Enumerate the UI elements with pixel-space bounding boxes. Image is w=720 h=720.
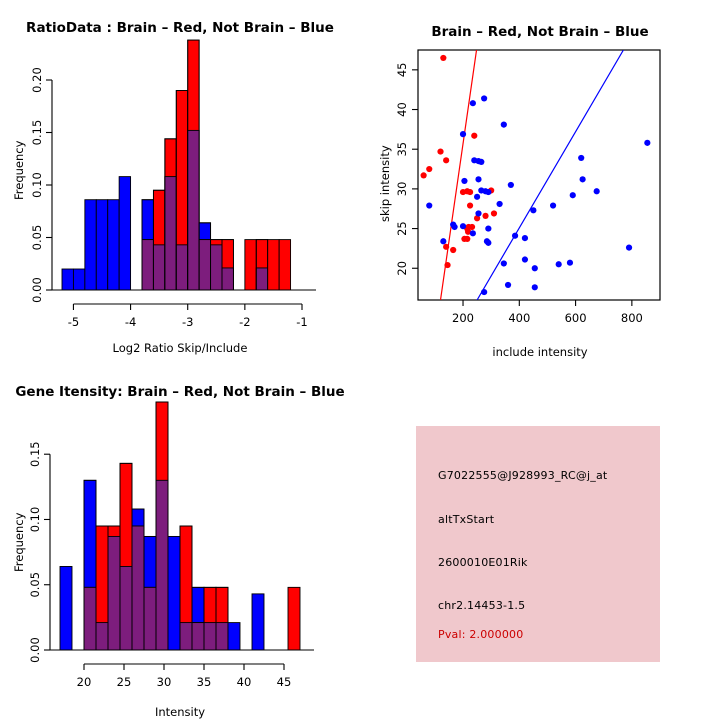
scatter-point [481, 95, 487, 101]
hist-bar-overlap [142, 240, 153, 290]
scatter-point [450, 247, 456, 253]
info-probe-id: G7022555@J928993_RC@j_at [438, 469, 607, 482]
scatter-point [478, 159, 484, 165]
hist-bar-overlap [180, 623, 192, 650]
y-tick-label: 0.00 [28, 637, 42, 663]
hist-bar-red [268, 240, 279, 290]
hist-bar-red [279, 240, 290, 290]
scatter-point [522, 235, 528, 241]
hist-bar-blue [252, 594, 264, 650]
scatter-plot: 202530354045200400600800 [360, 28, 720, 328]
hist-bar-overlap [199, 240, 210, 290]
scatter-point [443, 244, 449, 250]
scatter-xlabel: include intensity [360, 345, 720, 359]
scatter-point [550, 202, 556, 208]
scatter-point [501, 122, 507, 128]
scatter-point [594, 188, 600, 194]
scatter-point [474, 194, 480, 200]
hist-bar-overlap [132, 526, 144, 650]
scatter-points [421, 55, 651, 295]
scatter-point [512, 233, 518, 239]
hist-bar-overlap [192, 623, 204, 650]
scatter-point [421, 172, 427, 178]
scatter-point [485, 225, 491, 231]
fit-line-not-brain-fit [477, 50, 623, 300]
hist-bar-blue [96, 200, 107, 290]
scatter-point [437, 148, 443, 154]
ratio-hist-xlabel: Log2 Ratio Skip/Include [0, 341, 360, 355]
hist-bar-overlap [156, 480, 168, 650]
svg-ratio-bars [62, 40, 291, 290]
hist-bar-overlap [216, 623, 228, 650]
scatter-point [505, 282, 511, 288]
x-tick-label: -3 [182, 315, 193, 328]
y-tick-label: 0.10 [28, 507, 42, 533]
scatter-point [482, 213, 488, 219]
hist-bar-blue [85, 200, 96, 290]
y-tick-label: 0.20 [30, 67, 44, 93]
scatter-point [485, 240, 491, 246]
hist-bar-overlap [120, 566, 132, 650]
scatter-point [497, 201, 503, 207]
scatter-point [501, 260, 507, 266]
scatter-point [475, 176, 481, 182]
scatter-point [475, 210, 481, 216]
scatter-point [491, 210, 497, 216]
panel-gene-histogram: Gene Itensity: Brain – Red, Not Brain – … [0, 360, 360, 720]
info-locus: chr2.14453-1.5 [438, 599, 525, 612]
x-tick-label: 30 [157, 675, 172, 689]
y-tick-label: 35 [395, 142, 409, 157]
y-tick-label: 0.15 [28, 441, 42, 467]
scatter-point [470, 100, 476, 106]
hist-bar-overlap [153, 245, 164, 290]
scatter-point [460, 131, 466, 137]
scatter-point [570, 192, 576, 198]
y-tick-label: 0.15 [30, 120, 44, 146]
scatter-point [481, 289, 487, 295]
y-tick-label: 20 [395, 261, 409, 276]
scatter-point [426, 166, 432, 172]
gene-hist-ylabel: Frequency [12, 513, 26, 572]
panel-ratio-histogram: RatioData : Brain – Red, Not Brain – Blu… [0, 0, 360, 360]
x-tick-label: -4 [125, 315, 136, 328]
x-tick-label: 45 [277, 675, 292, 689]
y-tick-label: 0.05 [30, 225, 44, 251]
scatter-point [471, 133, 477, 139]
scatter-ylabel: skip intensity [378, 145, 392, 222]
y-tick-label: 0.00 [30, 277, 44, 303]
hist-bar-overlap [165, 177, 176, 290]
scatter-point [578, 155, 584, 161]
scatter-point [440, 238, 446, 244]
hist-bar-blue [108, 200, 119, 290]
scatter-point [464, 236, 470, 242]
hist-bar-overlap [144, 587, 156, 650]
ratio-hist-plot: 0.000.050.100.150.20-5-4-3-2-1 [0, 28, 360, 328]
scatter-point [644, 140, 650, 146]
x-tick-label: 600 [565, 311, 587, 325]
hist-bar-overlap [211, 245, 222, 290]
scatter-point [467, 189, 473, 195]
figure-canvas: RatioData : Brain – Red, Not Brain – Blu… [0, 0, 720, 720]
scatter-point [460, 223, 466, 229]
hist-bar-red [245, 240, 256, 290]
hist-bar-blue [228, 623, 240, 650]
y-tick-label: 0.05 [28, 572, 42, 598]
hist-bar-overlap [256, 268, 267, 290]
hist-bar-blue [60, 566, 72, 650]
scatter-point [626, 245, 632, 251]
scatter-point [530, 207, 536, 213]
x-tick-label: 800 [621, 311, 643, 325]
hist-bar-blue [62, 269, 73, 290]
info-event-type: altTxStart [438, 513, 494, 526]
x-tick-label: 400 [508, 311, 530, 325]
scatter-point [444, 262, 450, 268]
scatter-point [426, 202, 432, 208]
gene-info-box: G7022555@J928993_RC@j_at altTxStart 2600… [416, 426, 660, 662]
y-tick-label: 30 [395, 182, 409, 197]
gene-hist-plot: 0.000.050.100.15202530354045 [0, 392, 360, 692]
hist-bar-overlap [222, 268, 233, 290]
panel-intensity-scatter: Brain – Red, Not Brain – Blue 2025303540… [360, 0, 720, 360]
y-tick-label: 40 [395, 102, 409, 117]
scatter-point [469, 224, 475, 230]
info-gene-symbol: 2600010E01Rik [438, 556, 528, 569]
hist-bar-overlap [84, 587, 96, 650]
scatter-point [508, 182, 514, 188]
hist-bar-overlap [108, 536, 120, 650]
x-tick-label: -1 [296, 315, 307, 328]
svg-gene-bars [60, 402, 300, 650]
y-tick-label: 45 [395, 63, 409, 78]
scatter-point [461, 178, 467, 184]
hist-bar-overlap [204, 623, 216, 650]
scatter-point [522, 256, 528, 262]
x-tick-label: 40 [237, 675, 252, 689]
hist-bar-blue [119, 177, 130, 290]
hist-bar-overlap [96, 623, 108, 650]
panel-gene-info: G7022555@J928993_RC@j_at altTxStart 2600… [360, 360, 720, 720]
info-pval: Pval: 2.000000 [438, 628, 523, 641]
scatter-point [443, 157, 449, 163]
scatter-point [470, 230, 476, 236]
scatter-point [556, 261, 562, 267]
scatter-point [467, 202, 473, 208]
x-tick-label: 25 [117, 675, 132, 689]
x-tick-label: 20 [77, 675, 92, 689]
gene-hist-xlabel: Intensity [0, 705, 360, 719]
ratio-hist-ylabel: Frequency [12, 141, 26, 200]
hist-bar-overlap [188, 130, 199, 290]
x-tick-label: 200 [452, 311, 474, 325]
hist-bar-blue [73, 269, 84, 290]
scatter-point [532, 265, 538, 271]
y-tick-label: 0.10 [30, 172, 44, 198]
x-tick-label: 35 [197, 675, 212, 689]
scatter-point [567, 260, 573, 266]
scatter-point [440, 55, 446, 61]
scatter-point [485, 189, 491, 195]
hist-bar-blue [168, 536, 180, 650]
x-tick-label: -2 [239, 315, 250, 328]
hist-bar-red [288, 587, 300, 650]
scatter-point [532, 284, 538, 290]
y-tick-label: 25 [395, 221, 409, 236]
scatter-point [451, 224, 457, 230]
fit-lines [441, 50, 624, 300]
scatter-point [580, 176, 586, 182]
plot-frame [418, 50, 660, 300]
x-tick-label: -5 [68, 315, 79, 328]
hist-bar-overlap [176, 245, 187, 290]
